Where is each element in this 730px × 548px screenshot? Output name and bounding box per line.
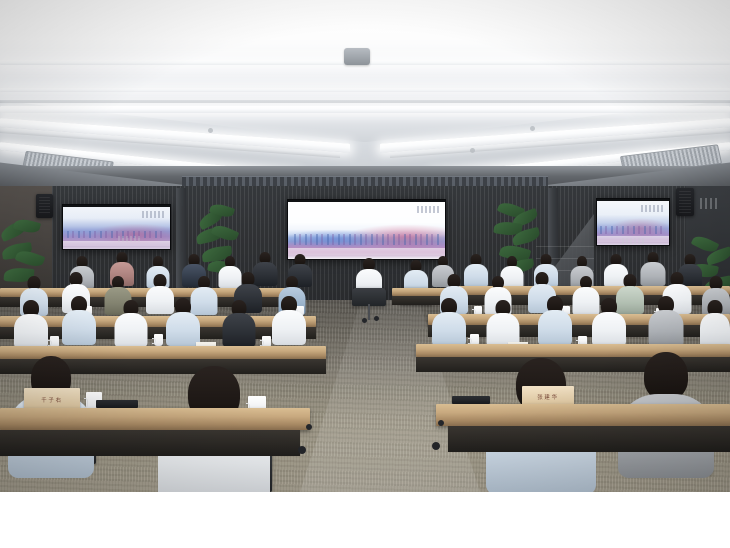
display-watermark [641,205,663,212]
cityscape-skyline [600,226,666,234]
attendee-desk [428,314,730,325]
ceiling-sensor-icon [208,128,213,133]
ceiling [0,0,730,176]
attendee [222,300,255,345]
chair-caster [362,318,367,323]
linear-led-strip [0,106,730,113]
attendee-torso [166,312,200,346]
page-background [0,492,730,548]
attendee [486,300,519,345]
wall-speaker [36,194,53,218]
attendee-torso [700,313,730,348]
display-bezel [288,200,445,202]
attendee-torso [538,310,572,345]
attendee [592,298,626,344]
display-bezel [63,205,170,207]
attendee [14,300,48,346]
display-watermark [417,206,439,213]
attendee [700,300,730,346]
attendee [538,296,572,343]
attendee-desk [0,408,310,430]
linear-led-strip [0,88,730,92]
display-caption-strip [118,236,140,242]
chair-caster [438,420,444,426]
attendee-torso [272,310,306,345]
desk-nameplate: 千子右 [24,388,80,410]
attendee [114,300,147,345]
display-caption-strip [622,238,644,244]
desk-modesty-panel [448,426,730,452]
attendee-head [644,352,688,400]
chair-leg [368,304,370,320]
attendee-torso [14,314,48,348]
laptop [452,396,490,404]
left-side-display [62,204,171,250]
ceiling-speaker-icon [344,48,370,65]
main-led-wall [287,199,446,260]
wall-signage [700,198,720,209]
attendee [432,298,466,344]
wall-speaker [676,188,694,216]
ceiling-sensor-icon [470,148,475,153]
chair-caster [432,442,440,450]
attendee-torso [62,310,96,345]
attendee [648,296,683,344]
attendee [356,258,382,292]
display-bezel [597,199,669,201]
attendee-torso [648,310,683,346]
nameplate-text: 千子右 [41,395,63,403]
nameplate-text: 张建华 [537,392,559,400]
ceiling-rail [0,100,730,103]
attendee-torso [592,312,626,346]
stair-step [536,246,594,247]
attendee-torso [432,312,466,346]
attendee [166,298,200,344]
chair-caster [306,424,312,430]
tea-cup [154,334,163,346]
ceiling-sensor-icon [530,126,535,131]
desk-modesty-panel [0,430,300,456]
cityscape-skyline [294,234,438,245]
laptop [96,400,138,408]
conference-room-photo: 千子右 张建华 [0,0,730,492]
chair-caster [298,446,306,454]
attendee-torso [114,313,147,347]
attendee [62,296,96,343]
screenshot-root: 千子右 张建华 [0,0,730,548]
display-watermark [142,211,164,218]
chair-caster [374,316,379,321]
desk-nameplate: 张建华 [522,386,574,406]
cityscape-skyline [67,231,165,239]
attendee-desk [436,404,730,426]
cityscape-river [63,241,170,247]
attendee [272,296,306,343]
attendee-torso [222,313,255,347]
